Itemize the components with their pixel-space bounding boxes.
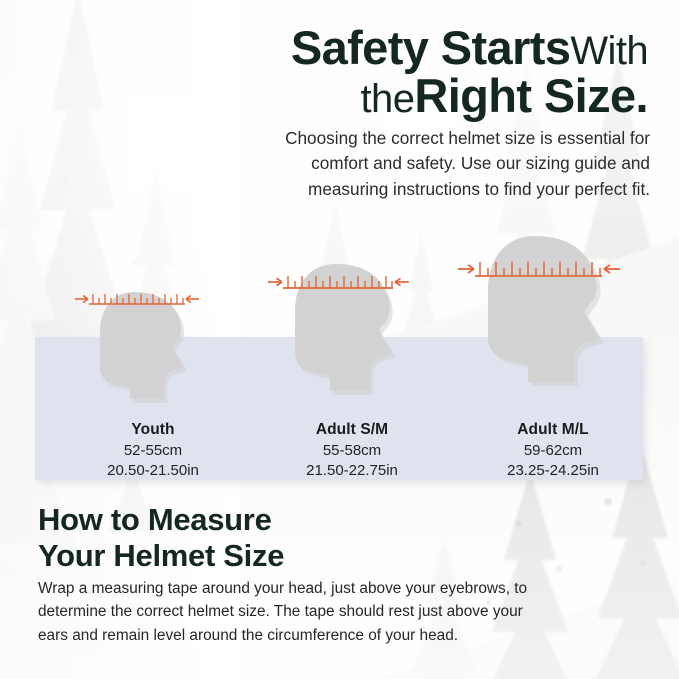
size-cm: 55-58cm	[257, 441, 447, 462]
how-to-measure-body: Wrap a measuring tape around your head, …	[38, 577, 528, 647]
size-name: Adult S/M	[257, 419, 447, 440]
headline-line-2: theRight Size.	[180, 72, 648, 120]
hero-subheading: Choosing the correct helmet size is esse…	[246, 126, 650, 202]
headline-bold-part-2: Right Size.	[414, 69, 648, 122]
snow-texture-speck	[640, 560, 646, 566]
head-diagram-adult-ml	[453, 229, 653, 413]
head-profile-icon	[68, 261, 238, 413]
size-inches: 20.50-21.50in	[63, 461, 243, 482]
size-labels-adult-sm: Adult S/M 55-58cm 21.50-22.75in	[257, 419, 447, 482]
size-cm: 59-62cm	[453, 441, 653, 462]
page-title: Safety StartsWith theRight Size.	[180, 24, 648, 121]
size-labels-adult-ml: Adult M/L 59-62cm 23.25-24.25in	[453, 419, 653, 482]
size-name: Youth	[63, 419, 243, 440]
headline-light-part-1: With	[570, 29, 648, 73]
head-profile-icon	[262, 245, 442, 413]
head-diagram-youth	[68, 261, 238, 413]
head-diagram-adult-sm	[262, 245, 442, 413]
headline-line-1: Safety StartsWith	[180, 24, 648, 72]
snow-texture-speck	[604, 498, 612, 506]
size-cm: 52-55cm	[63, 441, 243, 462]
snow-texture-speck	[62, 180, 68, 186]
how-to-title-line-2: Your Helmet Size	[38, 538, 458, 574]
size-inches: 21.50-22.75in	[257, 461, 447, 482]
how-to-title-line-1: How to Measure	[38, 502, 458, 538]
snow-texture-speck	[556, 566, 562, 572]
size-labels-youth: Youth 52-55cm 20.50-21.50in	[63, 419, 243, 482]
how-to-measure-title: How to Measure Your Helmet Size	[38, 502, 458, 574]
size-inches: 23.25-24.25in	[453, 461, 653, 482]
size-column-youth[interactable]: Youth 52-55cm 20.50-21.50in	[63, 261, 243, 482]
snow-texture-speck	[515, 520, 522, 527]
headline-bold-part-1: Safety Starts	[291, 21, 571, 74]
head-profile-icon	[453, 229, 653, 413]
helmet-size-guide-infographic: Safety StartsWith theRight Size. Choosin…	[0, 0, 679, 679]
size-name: Adult M/L	[453, 419, 653, 440]
size-chart: Youth 52-55cm 20.50-21.50in	[35, 232, 643, 482]
size-column-adult-sm[interactable]: Adult S/M 55-58cm 21.50-22.75in	[257, 245, 447, 482]
size-column-adult-ml[interactable]: Adult M/L 59-62cm 23.25-24.25in	[453, 229, 653, 482]
headline-light-part-2: the	[361, 77, 415, 121]
